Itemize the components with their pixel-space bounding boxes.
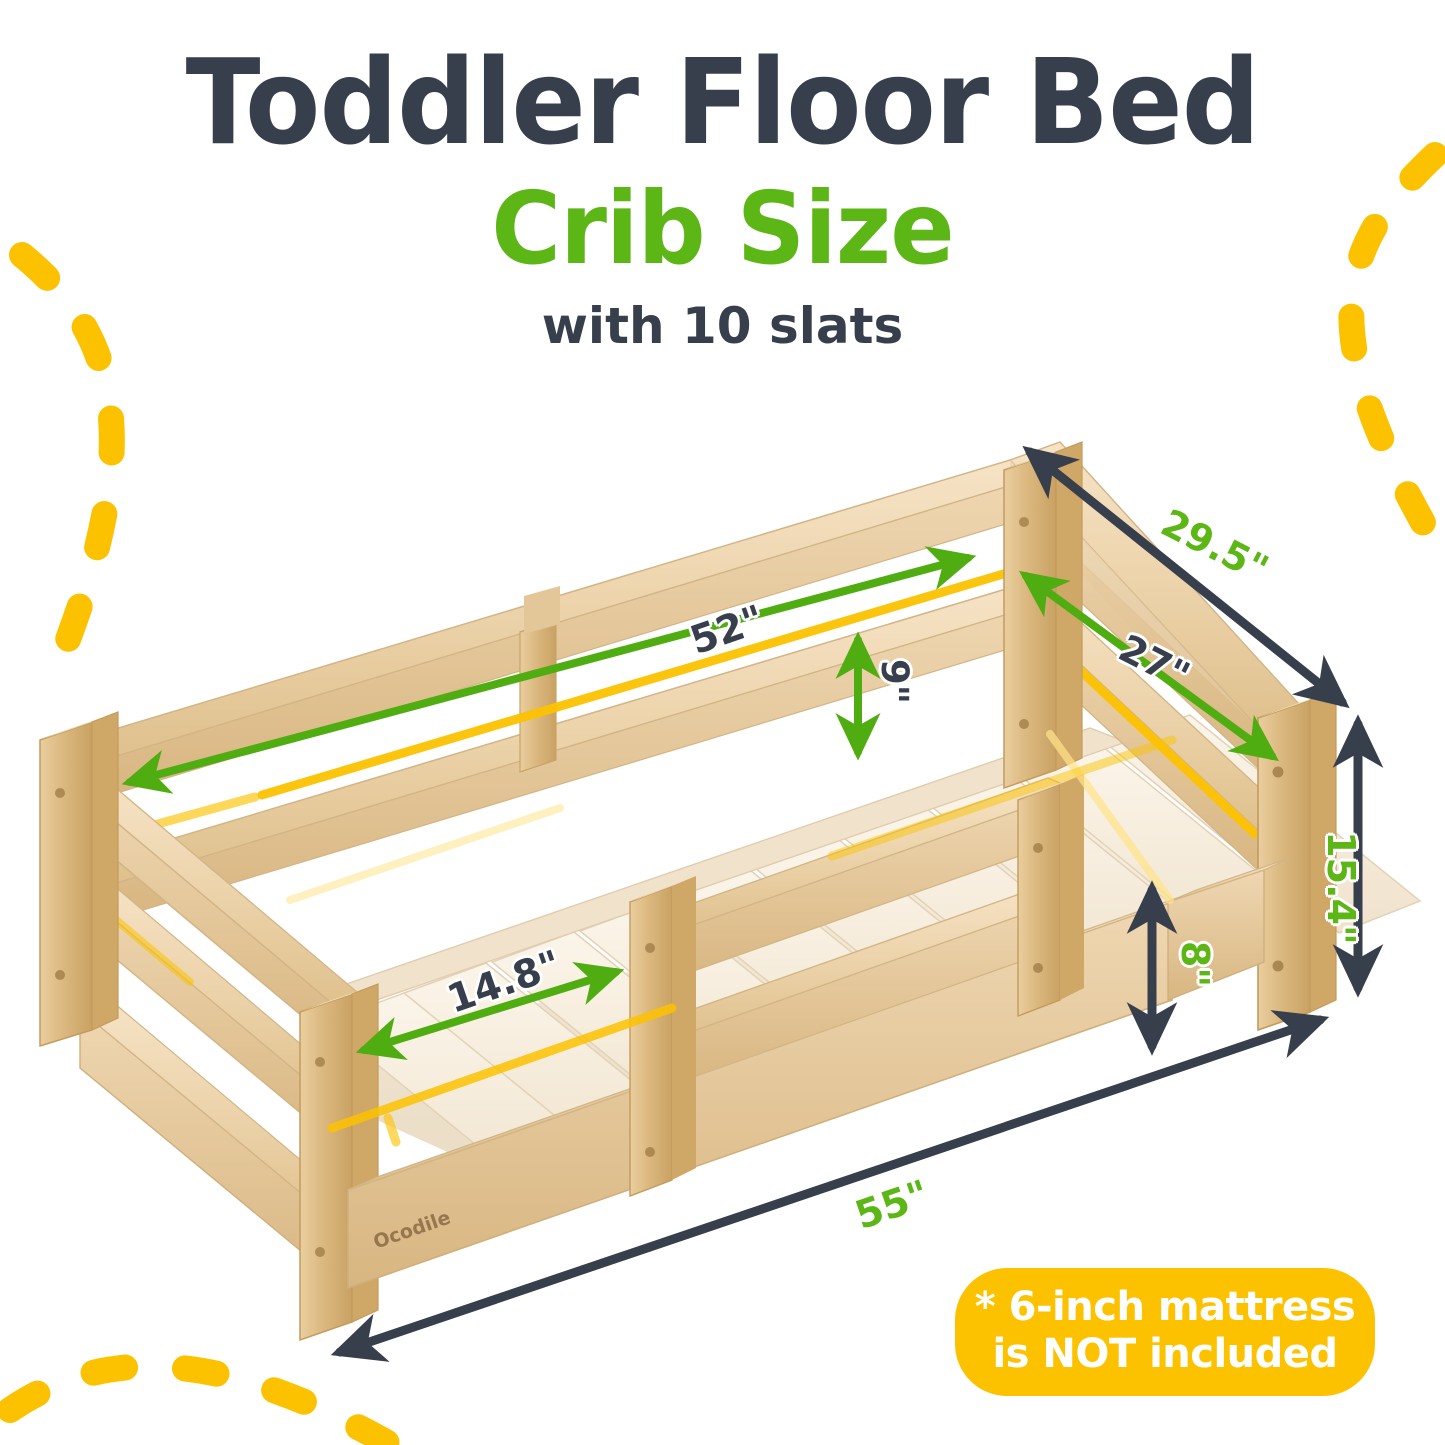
bed-illustration xyxy=(0,0,1445,1445)
corner-post-front-left xyxy=(300,984,378,1340)
infographic-canvas: Toddler Floor Bed Crib Size with 10 slat… xyxy=(0,0,1445,1445)
corner-post-front-right xyxy=(1258,690,1336,1030)
mattress-disclaimer-badge: * 6-inch mattress is NOT included xyxy=(955,1268,1375,1396)
corner-post-back-left xyxy=(40,712,118,1046)
corner-post-back-right xyxy=(1004,442,1082,788)
disclaimer-line-2: is NOT included xyxy=(965,1331,1365,1378)
disclaimer-line-1: * 6-inch mattress xyxy=(965,1284,1365,1331)
